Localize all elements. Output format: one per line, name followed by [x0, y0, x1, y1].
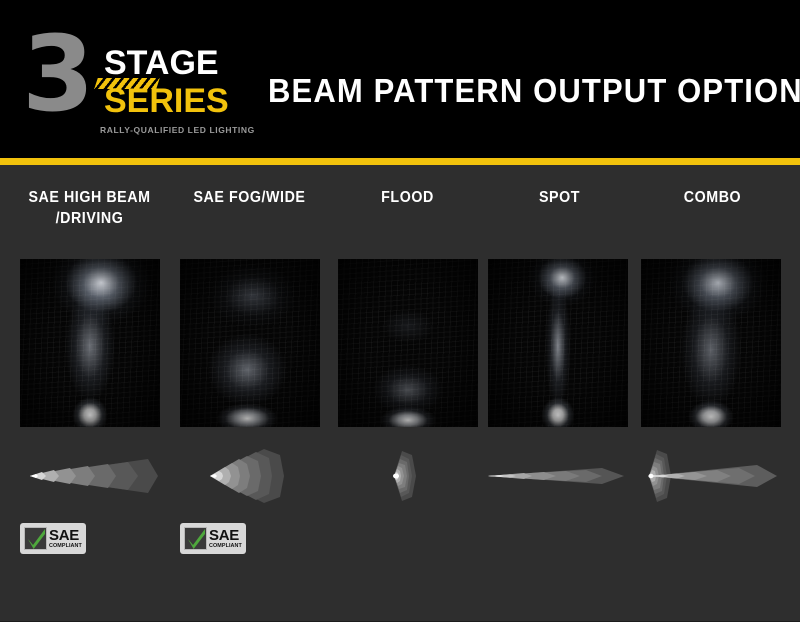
check-icon: [24, 527, 47, 550]
column-label-driving: SAE HIGH BEAM /DRIVING: [18, 187, 161, 229]
beam-photo-fog-wide: [180, 259, 320, 427]
beam-diagram-combo: [635, 445, 790, 507]
beam-diagram-spot: [482, 445, 637, 507]
logo-word-series: SERIES: [104, 84, 229, 118]
column-label-line1: COMBO: [684, 189, 741, 206]
logo-tagline: RALLY-QUALIFIED LED LIGHTING: [100, 125, 255, 135]
photo-vignette: [338, 259, 478, 427]
column-label-fog-wide: SAE FOG/WIDE: [178, 187, 321, 208]
sae-badge-sub: COMPLIANT: [49, 544, 82, 549]
beam-option-column-driving: SAE HIGH BEAM /DRIVING: [12, 165, 167, 622]
beam-photo-combo: [641, 259, 781, 427]
column-label-flood: FLOOD: [336, 187, 479, 208]
beam-diagram-fog-wide: [172, 445, 327, 507]
beam-diagram-flood: [330, 445, 485, 507]
column-label-spot: SPOT: [488, 187, 631, 208]
column-label-line1: SPOT: [539, 189, 580, 206]
column-label-line1: SAE HIGH BEAM: [28, 189, 150, 206]
accent-rule: [0, 158, 800, 165]
beam-diagram-spot-svg: [482, 445, 637, 507]
check-icon: [184, 527, 207, 550]
sae-badge-sub: COMPLIANT: [209, 544, 242, 549]
logo-word-stage: STAGE: [104, 46, 219, 80]
photo-vignette: [180, 259, 320, 427]
column-label-line1: SAE FOG/WIDE: [193, 189, 305, 206]
header-bar: 3 STAGE SERIES RALLY-QUALIFIED LED LIGHT…: [0, 0, 800, 158]
beam-photo-driving: [20, 259, 160, 427]
beam-photo-flood: [338, 259, 478, 427]
logo-numeral: 3: [22, 22, 88, 126]
brand-logo: 3 STAGE SERIES RALLY-QUALIFIED LED LIGHT…: [22, 22, 247, 134]
beam-diagram-driving: [12, 445, 167, 507]
photo-vignette: [20, 259, 160, 427]
sae-badge-main: SAE: [49, 528, 82, 543]
beam-photo-spot: [488, 259, 628, 427]
beam-pattern-infographic: 3 STAGE SERIES RALLY-QUALIFIED LED LIGHT…: [0, 0, 800, 622]
sae-compliant-badge-fog-wide: SAE COMPLIANT: [180, 523, 246, 554]
column-label-line1: FLOOD: [381, 189, 434, 206]
beam-option-column-flood: FLOOD: [330, 165, 485, 622]
sae-badge-main: SAE: [209, 528, 242, 543]
photo-vignette: [488, 259, 628, 427]
photo-vignette: [641, 259, 781, 427]
page-title: BEAM PATTERN OUTPUT OPTIONS: [268, 72, 800, 110]
sae-badge-text: SAE COMPLIANT: [49, 528, 82, 549]
beam-option-column-spot: SPOT: [482, 165, 637, 622]
sae-badge-text: SAE COMPLIANT: [209, 528, 242, 549]
beam-diagram-flood-svg: [330, 445, 485, 507]
column-label-combo: COMBO: [641, 187, 784, 208]
beam-diagram-fog-wide-svg: [172, 445, 327, 507]
beam-option-grid: SAE HIGH BEAM /DRIVING: [0, 165, 800, 622]
beam-option-column-fog-wide: SAE FOG/WIDE: [172, 165, 327, 622]
beam-option-column-combo: COMBO: [635, 165, 790, 622]
column-label-line2: /DRIVING: [18, 208, 161, 229]
sae-compliant-badge-driving: SAE COMPLIANT: [20, 523, 86, 554]
beam-diagram-driving-svg: [12, 445, 167, 507]
beam-diagram-combo-svg: [635, 445, 790, 507]
